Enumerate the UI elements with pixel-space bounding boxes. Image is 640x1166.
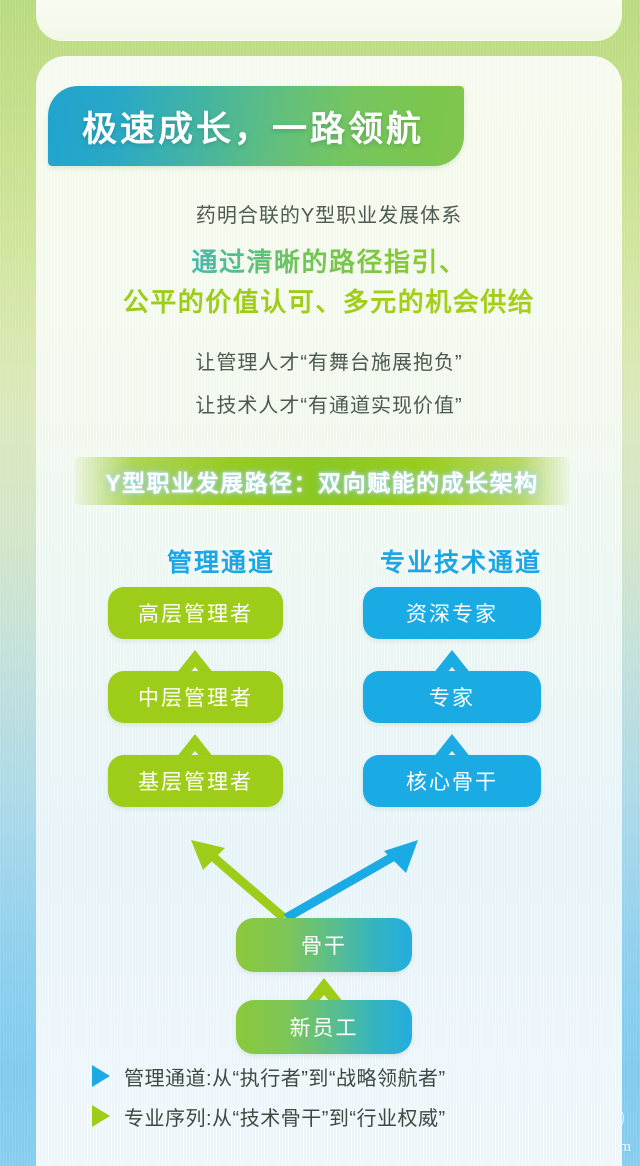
bullet-row-1: 管理通道:从“执行者”到“战略领航者” xyxy=(92,1056,612,1096)
right-box-mid[interactable]: 专家 xyxy=(363,671,541,723)
bullet-text-1: 管理通道:从“执行者”到“战略领航者” xyxy=(124,1062,446,1091)
bullet-text-2: 专业序列:从“技术骨干”到“行业权威” xyxy=(124,1102,446,1131)
base-box-bottom-label: 新员工 xyxy=(290,1012,359,1042)
header-banner-title: 极速成长，一路领航 xyxy=(82,101,424,152)
arrow-up-right-icon xyxy=(286,840,418,918)
right-box-bottom[interactable]: 核心骨干 xyxy=(363,755,541,807)
base-box-top[interactable]: 骨干 xyxy=(236,918,412,972)
top-accent-strip xyxy=(36,0,622,40)
left-column-header: 管理通道 xyxy=(131,543,311,579)
base-box-bottom[interactable]: 新员工 xyxy=(236,1000,412,1054)
header-banner: 极速成长，一路领航 xyxy=(48,86,464,166)
left-box-bottom[interactable]: 基层管理者 xyxy=(108,755,283,807)
left-box-top-label: 高层管理者 xyxy=(138,598,253,628)
right-column-header: 专业技术通道 xyxy=(356,543,566,579)
bullet-row-2: 专业序列:从“技术骨干”到“行业权威” xyxy=(92,1096,612,1136)
content-card: 极速成长，一路领航 药明合联的Y型职业发展体系 通过清晰的路径指引、 公平的价值… xyxy=(36,56,622,1166)
left-box-top[interactable]: 高层管理者 xyxy=(108,587,283,639)
triangle-right-icon-1 xyxy=(92,1065,110,1087)
right-box-top[interactable]: 资深专家 xyxy=(363,587,541,639)
intro-highlight-line-2: 公平的价值认可、多元的机会供给 xyxy=(36,282,622,322)
triangle-right-icon-2 xyxy=(92,1105,110,1127)
base-box-top-label: 骨干 xyxy=(301,930,347,960)
poster-page: 极速成长，一路领航 药明合联的Y型职业发展体系 通过清晰的路径指引、 公平的价值… xyxy=(0,0,640,1166)
section-banner-title: Y型职业发展路径：双向赋能的成长架构 xyxy=(105,464,538,498)
section-banner: Y型职业发展路径：双向赋能的成长架构 xyxy=(74,457,570,505)
intro-subtitle: 药明合联的Y型职业发展体系 xyxy=(36,199,622,228)
right-box-mid-label: 专家 xyxy=(429,682,475,712)
left-box-mid[interactable]: 中层管理者 xyxy=(108,671,283,723)
intro-quote-2: 让技术人才“有通道实现价值” xyxy=(36,389,622,418)
intro-quote-1: 让管理人才“有舞台施展抱负” xyxy=(36,346,622,375)
left-box-mid-label: 中层管理者 xyxy=(138,682,253,712)
intro-highlight: 通过清晰的路径指引、 公平的价值认可、多元的机会供给 xyxy=(36,242,622,322)
right-box-top-label: 资深专家 xyxy=(406,598,498,628)
bullet-list: 管理通道:从“执行者”到“战略领航者” 专业序列:从“技术骨干”到“行业权威” xyxy=(92,1056,612,1136)
right-box-bottom-label: 核心骨干 xyxy=(406,766,498,796)
card-inner: 极速成长，一路领航 药明合联的Y型职业发展体系 通过清晰的路径指引、 公平的价值… xyxy=(36,56,622,1166)
arrow-up-left-icon xyxy=(191,840,284,918)
left-box-bottom-label: 基层管理者 xyxy=(138,766,253,796)
intro-highlight-line-1: 通过清晰的路径指引、 xyxy=(36,242,622,282)
y-junction-arrows xyxy=(36,814,622,924)
